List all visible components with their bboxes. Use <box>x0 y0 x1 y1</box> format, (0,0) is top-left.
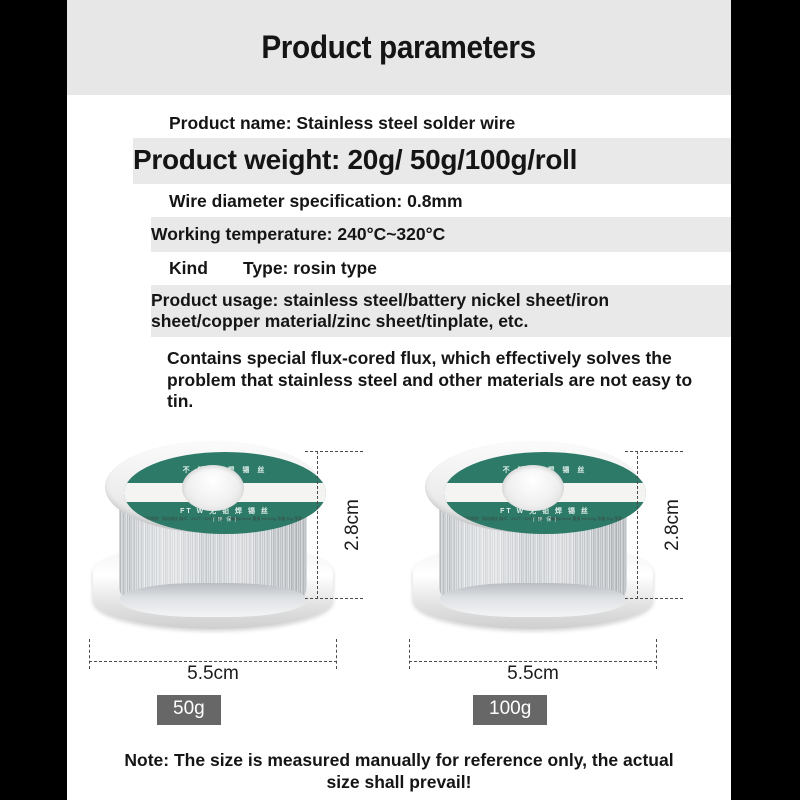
spec-product-usage-text: Product usage: stainless steel/battery n… <box>151 290 609 331</box>
dimension-tick-bottom <box>305 598 363 599</box>
spec-list: Product name: Stainless steel solder wir… <box>67 95 731 415</box>
dimension-width-label: 5.5cm <box>89 663 337 685</box>
spool-coil-bottom <box>439 583 627 617</box>
dimension-height-label: 2.8cm <box>342 499 364 551</box>
spec-row-working-temperature: Working temperature: 240°C~320°C <box>151 217 731 252</box>
product-figure-50g: 不 锈 钢 焊 锡 丝 型号规格：高纯锡丝 熔点：240℃~320℃ 长度：约8… <box>77 429 377 729</box>
spec-row-product-usage: Product usage: stainless steel/battery n… <box>151 285 731 338</box>
weight-badge-50g: 50g <box>157 695 221 725</box>
dimension-tick-top <box>305 451 363 452</box>
product-figures: 不 锈 钢 焊 锡 丝 型号规格：高纯锡丝 熔点：240℃~320℃ 长度：约8… <box>67 429 731 729</box>
spec-kind-label: Kind <box>169 258 243 279</box>
spec-product-name-text: Product name: Stainless steel solder wir… <box>169 113 515 133</box>
page-header: Product parameters <box>67 0 731 95</box>
page-title: Product parameters <box>262 29 536 66</box>
spool-label-sub-text: ( 环 保 ) <box>444 516 646 523</box>
solder-wire-spool-image: 不 锈 钢 焊 锡 丝 型号规格：高纯锡丝 熔点：240℃~320℃ 长度：约8… <box>93 433 333 643</box>
spec-product-weight-text: Product weight: 20g/ 50g/100g/roll <box>133 144 577 175</box>
spec-row-flux-note: Contains special flux-cored flux, which … <box>167 337 731 415</box>
content-area: Product parameters Product name: Stainle… <box>67 0 731 800</box>
spec-working-temperature-text: Working temperature: 240°C~320°C <box>151 224 445 244</box>
letterbox-left <box>0 0 67 800</box>
dimension-tick-bottom <box>625 598 683 599</box>
dimension-width-50g: 5.5cm <box>89 639 337 685</box>
dimension-line-horizontal <box>89 661 337 662</box>
dimension-tick-top <box>625 451 683 452</box>
dimension-width-label: 5.5cm <box>409 663 657 685</box>
spool-label-sub-text: ( 环 保 ) <box>124 516 326 523</box>
product-figure-100g: 不 锈 钢 焊 锡 丝 型号规格：高纯锡丝 熔点：240℃~320℃ 长度：约8… <box>397 429 697 729</box>
spec-wire-diameter-text: Wire diameter specification: 0.8mm <box>169 191 463 211</box>
spec-row-product-name: Product name: Stainless steel solder wir… <box>169 109 731 138</box>
spool-top-disc: 不 锈 钢 焊 锡 丝 型号规格：高纯锡丝 熔点：240℃~320℃ 长度：约8… <box>425 441 641 533</box>
spool-top-disc: 不 锈 钢 焊 锡 丝 型号规格：高纯锡丝 熔点：240℃~320℃ 长度：约8… <box>105 441 321 533</box>
spool-coil-bottom <box>119 583 307 617</box>
product-parameters-page: Product parameters Product name: Stainle… <box>0 0 800 800</box>
dimension-height-50g: 2.8cm <box>305 451 365 599</box>
weight-badge-100g: 100g <box>473 695 547 725</box>
dimension-height-label: 2.8cm <box>662 499 684 551</box>
spool-center-hole <box>502 465 564 511</box>
dimension-height-100g: 2.8cm <box>625 451 685 599</box>
footer-note: Note: The size is measured manually for … <box>67 750 731 794</box>
spec-kind-value: Type: rosin type <box>243 258 377 279</box>
spec-flux-note-text: Contains special flux-cored flux, which … <box>167 348 692 411</box>
spec-row-product-weight: Product weight: 20g/ 50g/100g/roll <box>133 138 731 183</box>
dimension-line-horizontal <box>409 661 657 662</box>
dimension-line-vertical <box>637 451 638 599</box>
dimension-width-100g: 5.5cm <box>409 639 657 685</box>
spec-row-kind: Kind Type: rosin type <box>169 252 731 284</box>
letterbox-right <box>731 0 800 800</box>
spool-center-hole <box>182 465 244 511</box>
dimension-line-vertical <box>317 451 318 599</box>
solder-wire-spool-image: 不 锈 钢 焊 锡 丝 型号规格：高纯锡丝 熔点：240℃~320℃ 长度：约8… <box>413 433 653 643</box>
spec-row-wire-diameter: Wire diameter specification: 0.8mm <box>169 184 731 217</box>
